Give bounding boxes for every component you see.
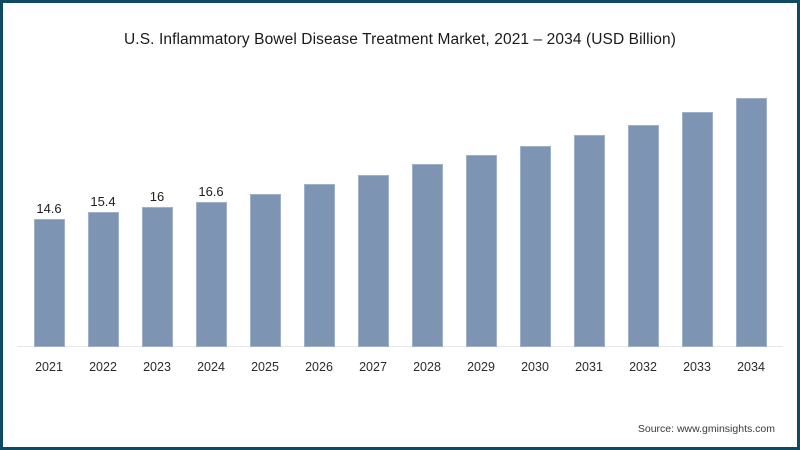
bar-slot: 14.6 [22, 63, 76, 347]
bar-slot [616, 63, 670, 347]
bar-slot [562, 63, 616, 347]
x-tick-2025: 2025 [238, 355, 292, 379]
x-tick-2034: 2034 [724, 355, 778, 379]
x-tick-2027: 2027 [346, 355, 400, 379]
bar[interactable] [358, 175, 389, 348]
x-tick-2021: 2021 [22, 355, 76, 379]
x-tick-2028: 2028 [400, 355, 454, 379]
bar-slot [670, 63, 724, 347]
bar-slot [508, 63, 562, 347]
bar[interactable] [250, 194, 281, 347]
bar-value-label: 16 [130, 189, 184, 204]
bar[interactable] [736, 98, 767, 347]
bar[interactable] [304, 184, 335, 347]
bar[interactable] [34, 219, 65, 347]
bar-value-label: 16.6 [184, 184, 238, 199]
plot-area: 14.615.41616.6 2021202220232024202520262… [17, 63, 783, 409]
x-tick-2026: 2026 [292, 355, 346, 379]
bar[interactable] [412, 164, 443, 347]
chart-frame: U.S. Inflammatory Bowel Disease Treatmen… [0, 0, 800, 450]
bar-slot [292, 63, 346, 347]
bar[interactable] [682, 112, 713, 347]
bar-slot: 15.4 [76, 63, 130, 347]
x-tick-2023: 2023 [130, 355, 184, 379]
bar[interactable] [142, 207, 173, 347]
bar-slot: 16 [130, 63, 184, 347]
bar-value-label: 14.6 [22, 201, 76, 216]
bar-value-label: 15.4 [76, 194, 130, 209]
x-tick-2024: 2024 [184, 355, 238, 379]
bar-slot [454, 63, 508, 347]
bar[interactable] [88, 212, 119, 347]
x-tick-2031: 2031 [562, 355, 616, 379]
bar[interactable] [628, 125, 659, 347]
x-tick-2032: 2032 [616, 355, 670, 379]
bar[interactable] [196, 202, 227, 347]
x-tick-2030: 2030 [508, 355, 562, 379]
bar[interactable] [466, 155, 497, 347]
x-axis-tick-labels: 2021202220232024202520262027202820292030… [17, 355, 783, 379]
chart-title: U.S. Inflammatory Bowel Disease Treatmen… [3, 31, 797, 49]
bar-slot: 16.6 [184, 63, 238, 347]
bar-slot [724, 63, 778, 347]
bar-slot [346, 63, 400, 347]
x-tick-2029: 2029 [454, 355, 508, 379]
x-tick-2033: 2033 [670, 355, 724, 379]
bar[interactable] [520, 146, 551, 347]
x-tick-2022: 2022 [76, 355, 130, 379]
bar-slot [238, 63, 292, 347]
bar[interactable] [574, 135, 605, 347]
source-attribution: Source: www.gminsights.com [638, 423, 775, 435]
bar-slot [400, 63, 454, 347]
bar-series: 14.615.41616.6 [17, 63, 783, 347]
